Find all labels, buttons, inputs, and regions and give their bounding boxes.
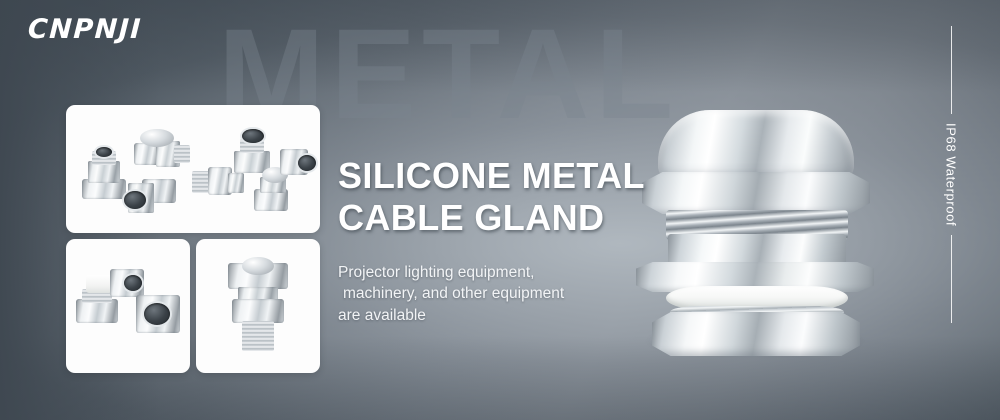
subtitle-line-2: machinery, and other equipment bbox=[338, 283, 638, 304]
subtitle-line-3: are available bbox=[338, 305, 638, 326]
headline-line-1: SILICONE METAL bbox=[338, 155, 668, 197]
product-thumbnail-gallery bbox=[66, 105, 320, 373]
headline-block: SILICONE METAL CABLE GLAND bbox=[338, 155, 668, 239]
headline-line-2: CABLE GLAND bbox=[338, 197, 668, 239]
badge-line-bottom bbox=[951, 235, 952, 323]
hero-upper-hex-nut bbox=[642, 172, 870, 214]
badge-label: IP68 Waterproof bbox=[944, 114, 959, 235]
product-card-silicone[interactable] bbox=[66, 239, 190, 373]
hero-lower-hex-nut bbox=[652, 312, 860, 356]
gland-thumb-10 bbox=[132, 289, 184, 343]
subtitle-line-1: Projector lighting equipment, bbox=[338, 262, 638, 283]
product-card-single[interactable] bbox=[196, 239, 320, 373]
gland-thumb-7 bbox=[280, 139, 320, 191]
subtitle-block: Projector lighting equipment, machinery,… bbox=[338, 262, 638, 326]
gland-thumb-3 bbox=[118, 173, 178, 223]
waterproof-badge: IP68 Waterproof bbox=[940, 26, 962, 336]
gland-thumb-11 bbox=[226, 255, 290, 359]
gland-thumb-2 bbox=[134, 127, 192, 175]
product-banner: METAL CNPNJI bbox=[0, 0, 1000, 420]
brand-logo: CNPNJI bbox=[27, 14, 143, 45]
badge-line-top bbox=[951, 26, 952, 114]
hero-dome-cap bbox=[658, 110, 854, 180]
product-card-group[interactable] bbox=[66, 105, 320, 233]
